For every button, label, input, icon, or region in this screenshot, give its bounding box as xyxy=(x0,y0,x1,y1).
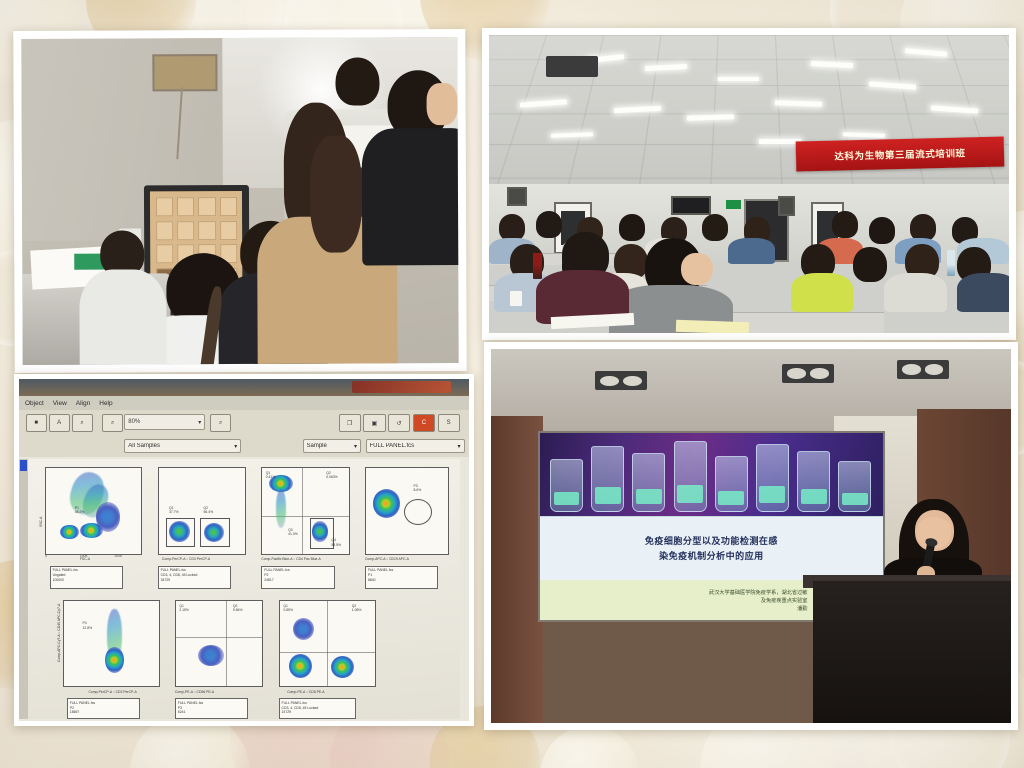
menu-item-align[interactable]: Align xyxy=(76,400,90,407)
gate-oval[interactable] xyxy=(404,499,432,525)
software-secondary-toolbar[interactable]: All Samples ▾ Sample ▾ FULL PANEL.fcs ▾ xyxy=(19,436,469,457)
chevron-down-icon: ▾ xyxy=(457,443,460,450)
quadrant-divider-vertical xyxy=(327,601,328,687)
person-body xyxy=(79,270,167,365)
quadrant-label: Q458.5% xyxy=(331,538,341,547)
wall-speaker xyxy=(507,187,527,206)
plot-cd4-cd8-quadrant[interactable]: Q10.41% Q20.063% Q341.0% Q458.5% xyxy=(261,467,349,555)
toolbar-extra-button[interactable]: S xyxy=(438,414,460,432)
photo-image-software: Object View Align Help ■ A ⌕ ⌕ 80% ▾ ⌕ ❐… xyxy=(19,379,469,721)
sample-file-value: FULL PANEL.fcs xyxy=(370,443,415,449)
training-banner[interactable]: 达科为生物第三届流式培训班 xyxy=(795,137,1004,172)
toolbar-text-button[interactable]: A xyxy=(49,414,70,432)
density-streak xyxy=(276,489,286,528)
audience-head xyxy=(702,214,728,241)
ceiling-projector xyxy=(546,56,598,77)
toolbar-color-button[interactable]: C xyxy=(413,414,435,432)
audience-head xyxy=(536,211,562,238)
slide-title-line-2: 染免疫机制分析中的应用 xyxy=(659,549,764,562)
plot-nk-cell-quadrant[interactable]: Q12.15% Q29.84% xyxy=(175,600,263,688)
audience-head xyxy=(832,211,858,238)
audience-torso xyxy=(884,273,946,312)
slide-header-image xyxy=(540,433,883,515)
beverage-bottle xyxy=(947,250,955,277)
plot-cd3-percp-scatter[interactable]: Q137.7% Q256.4% xyxy=(158,467,246,555)
audience-torso xyxy=(728,238,775,265)
audience-face-foreground xyxy=(681,253,712,286)
gate-rectangle[interactable] xyxy=(200,518,230,547)
audience-torso xyxy=(957,273,1009,312)
ceiling-spotlight xyxy=(595,371,647,390)
quadrant-label: Q29.84% xyxy=(233,604,243,613)
background-highlight xyxy=(352,381,451,394)
plot-7-legend: FULL PANEL.fcs CD3, 4, CD8, 45 Lucked 24… xyxy=(279,698,357,719)
exit-sign xyxy=(726,200,742,209)
quadrant-divider-vertical xyxy=(302,468,303,554)
quadrant-divider-vertical xyxy=(226,601,227,687)
canvas-sidebar[interactable] xyxy=(19,459,28,719)
test-tube xyxy=(715,456,748,512)
plot-1-x-tick: 0 xyxy=(45,554,47,558)
sample-type-select[interactable]: Sample ▾ xyxy=(303,439,362,453)
slide-affiliation-line-2: 及免疫疾重点实验室 xyxy=(761,597,808,604)
banner-text: 达科为生物第三届流式培训班 xyxy=(834,146,966,163)
plot-7-x-axis-label: Comp-PE-A :: CD8 PE-A xyxy=(287,690,324,694)
plot-canvas[interactable]: P145.2% FSC-A SSC-A 0 100K 200K FULL PAN… xyxy=(28,459,460,719)
photo-image-podium: 免疫细胞分型以及功能检测在感 染免疫机制分析中的应用 武汉大学基础医学院免疫学系… xyxy=(491,349,1011,723)
quadrant-label: Q12.15% xyxy=(179,604,189,613)
quadrant-label: Q10.41% xyxy=(266,471,276,480)
audience-head xyxy=(910,214,936,241)
gate-label: P38.6% xyxy=(414,484,422,493)
population-cluster xyxy=(331,656,354,678)
plot-2-x-axis-label: Comp-PerCP-A :: CD3 PerCP-A xyxy=(162,557,210,561)
slide-presenter-name: 潘勤 xyxy=(797,605,807,612)
plot-6-x-axis-label: Comp-PE-A :: CD56 PE-A xyxy=(175,690,214,694)
quadrant-label: Q341.0% xyxy=(288,528,298,537)
photo-laboratory-cytometer-demonstration[interactable] xyxy=(13,29,466,373)
quadrant-label: Q10.85% xyxy=(283,604,293,613)
sample-file-select[interactable]: FULL PANEL.fcs ▾ xyxy=(366,439,465,453)
population-cluster xyxy=(373,489,401,518)
ceiling-spotlight xyxy=(782,364,834,383)
plot-2-legend: FULL PANEL.fcs CD3, 4, CD8, 45 Lucked 34… xyxy=(158,566,231,589)
quadrant-label: Q21.08% xyxy=(352,604,362,613)
plot-3-legend: FULL PANEL.fcs P2 24817 xyxy=(261,566,334,589)
person-hair-strand xyxy=(309,135,362,253)
slide-title-line-1: 免疫细胞分型以及功能检测在感 xyxy=(645,534,778,547)
population-cluster xyxy=(60,525,79,540)
gate-label: P412.8% xyxy=(83,621,93,630)
toolbar-magnify-button-2[interactable]: ⌕ xyxy=(210,414,231,432)
software-menu-bar[interactable]: Object View Align Help xyxy=(19,396,469,410)
plot-1-y-axis-label: SSC-A xyxy=(39,517,43,527)
plot-4-x-axis-label: Comp-APC-A :: CD19 APC-A xyxy=(365,557,409,561)
audience-head xyxy=(619,214,645,241)
toolbar-rect-button[interactable]: ■ xyxy=(26,414,47,432)
menu-item-help[interactable]: Help xyxy=(99,400,112,407)
photo-image-lab xyxy=(21,37,458,365)
population-cluster xyxy=(198,645,224,666)
photo-image-lecture-hall: 达科为生物第三届流式培训班 xyxy=(489,35,1009,333)
audience-head xyxy=(499,214,525,241)
population-cluster xyxy=(105,647,124,673)
plot-cd19-cd16-scatter[interactable]: P38.6% xyxy=(365,467,449,555)
plot-4-legend: FULL PANEL.fcs P1 8840 xyxy=(365,566,438,589)
gate-label: Q256.4% xyxy=(204,506,214,515)
slide-affiliation-line-1: 武汉大学基础医学院免疫学系，湖北省过敏 xyxy=(709,589,808,596)
population-cluster xyxy=(293,618,314,640)
test-tube xyxy=(591,446,624,512)
photo-flow-cytometry-software[interactable]: Object View Align Help ■ A ⌕ ⌕ 80% ▾ ⌕ ❐… xyxy=(14,374,474,726)
wall-monitor xyxy=(671,196,711,215)
sample-label: Sample xyxy=(307,443,327,449)
test-tube xyxy=(797,451,830,512)
collage-canvas: 达科为生物第三届流式培训班 xyxy=(0,0,1024,768)
chevron-down-icon: ▾ xyxy=(198,419,201,426)
menu-item-object[interactable]: Object xyxy=(25,400,44,407)
test-tube xyxy=(550,459,583,512)
gate-rectangle[interactable] xyxy=(166,518,196,547)
quadrant-divider-horizontal xyxy=(262,516,348,517)
toolbar-magnify-icon[interactable]: ⌕ xyxy=(102,414,123,432)
plot-5-x-axis-label: Comp-PerCP-A :: CD3 PerCP-A xyxy=(88,690,136,694)
toolbar-undo-button[interactable]: ↺ xyxy=(388,414,410,432)
plot-6-legend: FULL PANEL.fcs P3 6241 xyxy=(175,698,248,719)
test-tube xyxy=(632,453,665,513)
audience-head xyxy=(869,217,895,244)
wood-panel-left xyxy=(491,416,543,723)
population-cluster xyxy=(289,654,312,678)
ceiling-spotlight xyxy=(897,360,949,379)
wall-box xyxy=(152,54,217,91)
gate-label: Q137.7% xyxy=(169,506,179,515)
plot-5-legend: FULL PANEL.fcs P2 18657 xyxy=(67,698,140,719)
test-tube xyxy=(838,461,871,512)
zoom-level-value: 80% xyxy=(128,419,140,425)
plot-fsc-ssc-scatter[interactable]: P145.2% xyxy=(45,467,142,555)
plot-1-legend: FULL PANEL.fcs Ungated 100000 xyxy=(50,566,123,589)
toolbar-zoom-button[interactable]: ⌕ xyxy=(72,414,93,432)
test-tube xyxy=(674,441,707,512)
photo-lecture-hall-audience[interactable]: 达科为生物第三届流式培训班 xyxy=(482,28,1016,340)
paper-cup xyxy=(510,291,522,306)
plot-5-y-axis-label: Comp-APC-Cy7-A :: CD45 APC-Cy7-A xyxy=(57,604,61,662)
plot-1-x-tick: 100K xyxy=(80,554,88,558)
slide-title-block: 免疫细胞分型以及功能检测在感 染免疫机制分析中的应用 xyxy=(540,516,883,581)
quadrant-divider-horizontal xyxy=(280,652,375,653)
test-tube xyxy=(756,444,789,512)
beverage-bottle xyxy=(533,253,541,280)
handout-paper xyxy=(676,320,749,333)
screen-top-strip xyxy=(19,379,469,396)
chevron-down-icon: ▾ xyxy=(234,443,237,450)
photo-speaker-at-podium[interactable]: 免疫细胞分型以及功能检测在感 染免疫机制分析中的应用 武汉大学基础医学院免疫学系… xyxy=(484,342,1018,730)
plot-3-x-axis-label: Comp-Pacific Blue-A :: CD4 Pac Blue-A xyxy=(261,557,321,561)
zoom-level-select[interactable]: 80% ▾ xyxy=(124,414,205,430)
toolbar-save-button[interactable]: ▣ xyxy=(363,414,385,432)
gate-label: P145.2% xyxy=(75,506,85,515)
audience-head xyxy=(853,247,887,283)
plot-cd45-side-scatter[interactable]: P412.8% xyxy=(63,600,160,688)
population-cluster xyxy=(96,502,121,531)
person-body-dark-shirt xyxy=(362,128,459,265)
toolbar-copy-button[interactable]: ❐ xyxy=(339,414,361,432)
sidebar-selection-marker[interactable] xyxy=(20,460,27,470)
wall-speaker xyxy=(778,196,795,216)
software-toolbar[interactable]: ■ A ⌕ ⌕ 80% ▾ ⌕ ❐ ▣ ↺ C S xyxy=(19,410,469,437)
menu-item-view[interactable]: View xyxy=(53,400,67,407)
audience-torso xyxy=(791,273,853,312)
person-face-profile xyxy=(427,83,458,126)
person-head xyxy=(335,57,379,106)
plot-1-x-tick: 200K xyxy=(114,554,122,558)
sample-group-value: All Samples xyxy=(128,443,160,449)
quadrant-label: Q20.063% xyxy=(326,471,338,480)
podium xyxy=(813,581,1011,723)
sample-group-select[interactable]: All Samples ▾ xyxy=(124,439,241,453)
chevron-down-icon: ▾ xyxy=(354,443,357,450)
ceiling-light xyxy=(718,77,760,82)
plot-tcell-subset-quadrant[interactable]: Q10.85% Q21.08% xyxy=(279,600,376,688)
quadrant-divider-horizontal xyxy=(176,637,262,638)
